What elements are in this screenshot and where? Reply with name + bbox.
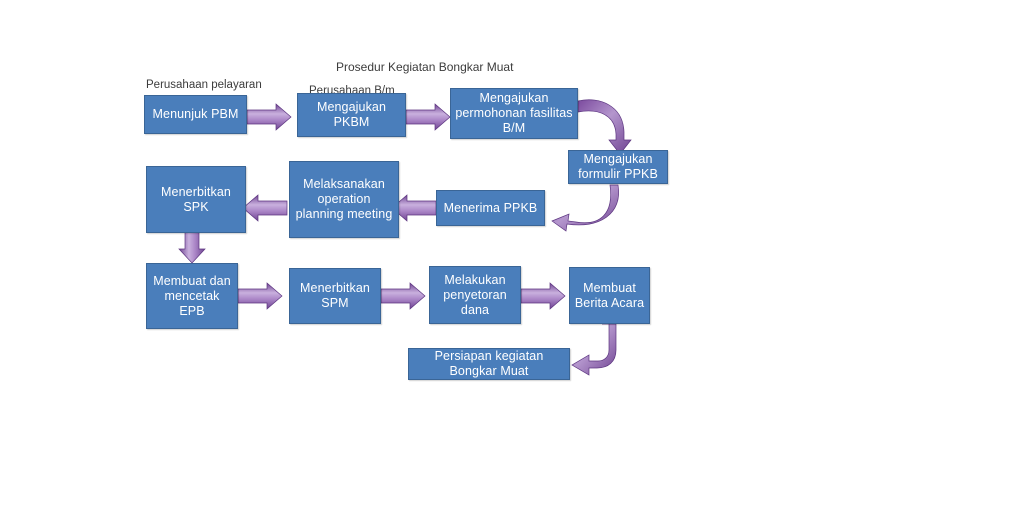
arrow-permohonan-to-formulir <box>578 100 631 154</box>
node-menerima-ppkb[interactable]: Menerima PPKB <box>436 190 545 226</box>
node-berita-acara[interactable]: Membuat Berita Acara <box>569 267 650 324</box>
node-formulir-ppkb-label: Mengajukan formulir PPKB <box>573 152 663 182</box>
node-berita-acara-label: Membuat Berita Acara <box>574 281 645 311</box>
node-mencetak-epb-label: Membuat dan mencetak EPB <box>151 274 233 319</box>
node-menerbitkan-spm[interactable]: Menerbitkan SPM <box>289 268 381 324</box>
node-operation-planning[interactable]: Melaksanakan operation planning meeting <box>289 161 399 238</box>
arrow-epb-to-spm <box>238 283 282 309</box>
node-menerbitkan-spk-label: Menerbitkan SPK <box>151 185 241 215</box>
node-menunjuk-pbm-label: Menunjuk PBM <box>149 107 242 122</box>
node-menerbitkan-spk[interactable]: Menerbitkan SPK <box>146 166 246 233</box>
node-menerima-ppkb-label: Menerima PPKB <box>441 201 540 216</box>
arrow-berita-to-persiapan <box>572 324 616 375</box>
arrow-spk-to-epb <box>179 232 205 263</box>
arrow-formulir-to-menerima <box>552 185 619 231</box>
arrow-menunjuk-to-pkbm <box>247 104 291 130</box>
arrow-penyetoran-to-berita <box>521 283 565 309</box>
node-menerbitkan-spm-label: Menerbitkan SPM <box>294 281 376 311</box>
node-persiapan-kegiatan-label: Persiapan kegiatan Bongkar Muat <box>413 349 565 379</box>
node-operation-planning-label: Melaksanakan operation planning meeting <box>294 177 394 222</box>
diagram-title: Prosedur Kegiatan Bongkar Muat <box>336 60 513 75</box>
node-menunjuk-pbm[interactable]: Menunjuk PBM <box>144 95 247 134</box>
flowchart-canvas: Prosedur Kegiatan Bongkar Muat Perusahaa… <box>0 0 1034 527</box>
node-mencetak-epb[interactable]: Membuat dan mencetak EPB <box>146 263 238 329</box>
arrow-planning-to-spk <box>243 195 287 221</box>
node-penyetoran-dana[interactable]: Melakukan penyetoran dana <box>429 266 521 324</box>
node-mengajukan-pkbm[interactable]: Mengajukan PKBM <box>297 93 406 137</box>
node-permohonan-fasilitas[interactable]: Mengajukan permohonan fasilitas B/M <box>450 88 578 139</box>
arrow-pkbm-to-permohonan <box>406 104 450 130</box>
lane-label-perusahaan-pelayaran: Perusahaan pelayaran <box>146 78 262 92</box>
node-formulir-ppkb[interactable]: Mengajukan formulir PPKB <box>568 150 668 184</box>
node-persiapan-kegiatan[interactable]: Persiapan kegiatan Bongkar Muat <box>408 348 570 380</box>
node-mengajukan-pkbm-label: Mengajukan PKBM <box>302 100 401 130</box>
node-penyetoran-dana-label: Melakukan penyetoran dana <box>434 273 516 318</box>
node-permohonan-fasilitas-label: Mengajukan permohonan fasilitas B/M <box>455 91 573 136</box>
arrow-spm-to-penyetoran <box>381 283 425 309</box>
